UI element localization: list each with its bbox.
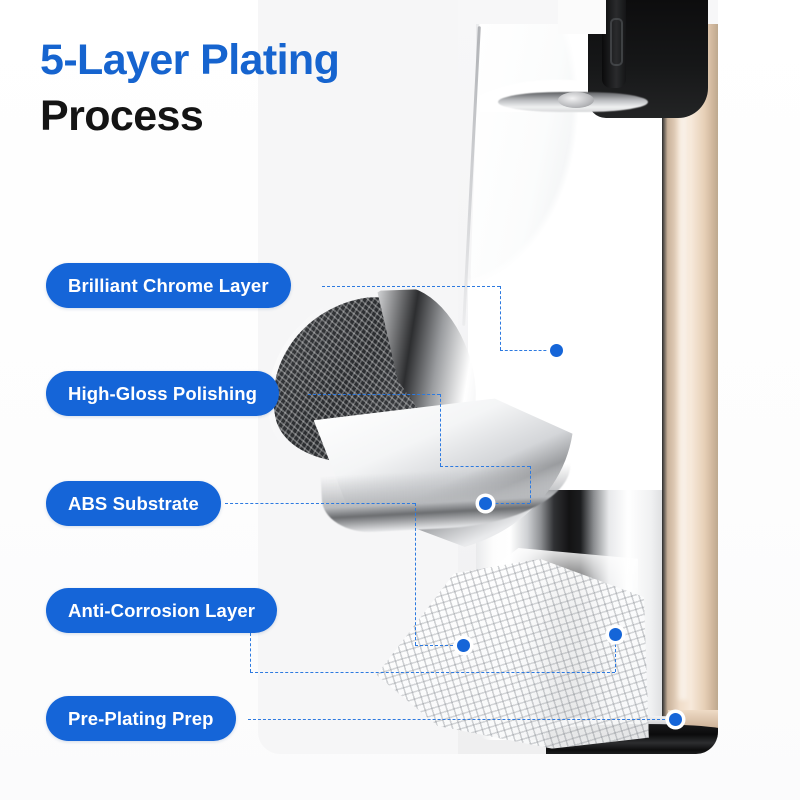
- label-pill-text: Pre-Plating Prep: [68, 708, 214, 730]
- label-pill-anti-corrosion-layer[interactable]: Anti-Corrosion Layer: [46, 588, 277, 633]
- connector-4-segment-b: [250, 672, 615, 673]
- marker-dot-pre-plating-prep[interactable]: [669, 713, 682, 726]
- marker-dot-high-gloss-polishing[interactable]: [479, 497, 492, 510]
- connector-2-segment-b: [440, 394, 441, 466]
- connector-2-segment-a: [308, 394, 440, 395]
- marker-dot-brilliant-chrome-layer[interactable]: [550, 344, 563, 357]
- connector-3-segment-a: [225, 503, 415, 504]
- faucet-top-gap: [558, 0, 606, 34]
- page-title: 5-Layer Plating Process: [40, 34, 339, 142]
- connector-3-segment-b: [415, 503, 416, 645]
- label-pill-high-gloss-polishing[interactable]: High-Gloss Polishing: [46, 371, 279, 416]
- gold-strip-highlight: [676, 40, 690, 700]
- page-title-line1: 5-Layer Plating: [40, 34, 339, 86]
- faucet-set-screw: [558, 92, 594, 108]
- label-pill-pre-plating-prep[interactable]: Pre-Plating Prep: [46, 696, 236, 741]
- label-pill-brilliant-chrome-layer[interactable]: Brilliant Chrome Layer: [46, 263, 291, 308]
- label-pill-text: Brilliant Chrome Layer: [68, 275, 269, 297]
- connector-3-segment-c: [415, 645, 463, 646]
- connector-2-segment-d: [530, 466, 531, 503]
- faucet-handle-slot: [610, 18, 623, 66]
- page-title-line2: Process: [40, 90, 339, 142]
- connector-1-segment-a: [322, 286, 500, 287]
- infographic-canvas: 5-Layer Plating Process Brilliant Chrome…: [0, 0, 800, 800]
- marker-dot-abs-substrate[interactable]: [457, 639, 470, 652]
- connector-1-segment-b: [500, 286, 501, 350]
- label-pill-abs-substrate[interactable]: ABS Substrate: [46, 481, 221, 526]
- label-pill-text: High-Gloss Polishing: [68, 383, 257, 405]
- connector-4-segment-a: [250, 633, 251, 672]
- marker-dot-anti-corrosion-layer[interactable]: [609, 628, 622, 641]
- connector-1-segment-c: [500, 350, 556, 351]
- label-pill-text: Anti-Corrosion Layer: [68, 600, 255, 622]
- connector-2-segment-c: [440, 466, 530, 467]
- champagne-gold-strip: [662, 24, 718, 740]
- label-pill-text: ABS Substrate: [68, 493, 199, 515]
- connector-5-segment-a: [248, 719, 675, 720]
